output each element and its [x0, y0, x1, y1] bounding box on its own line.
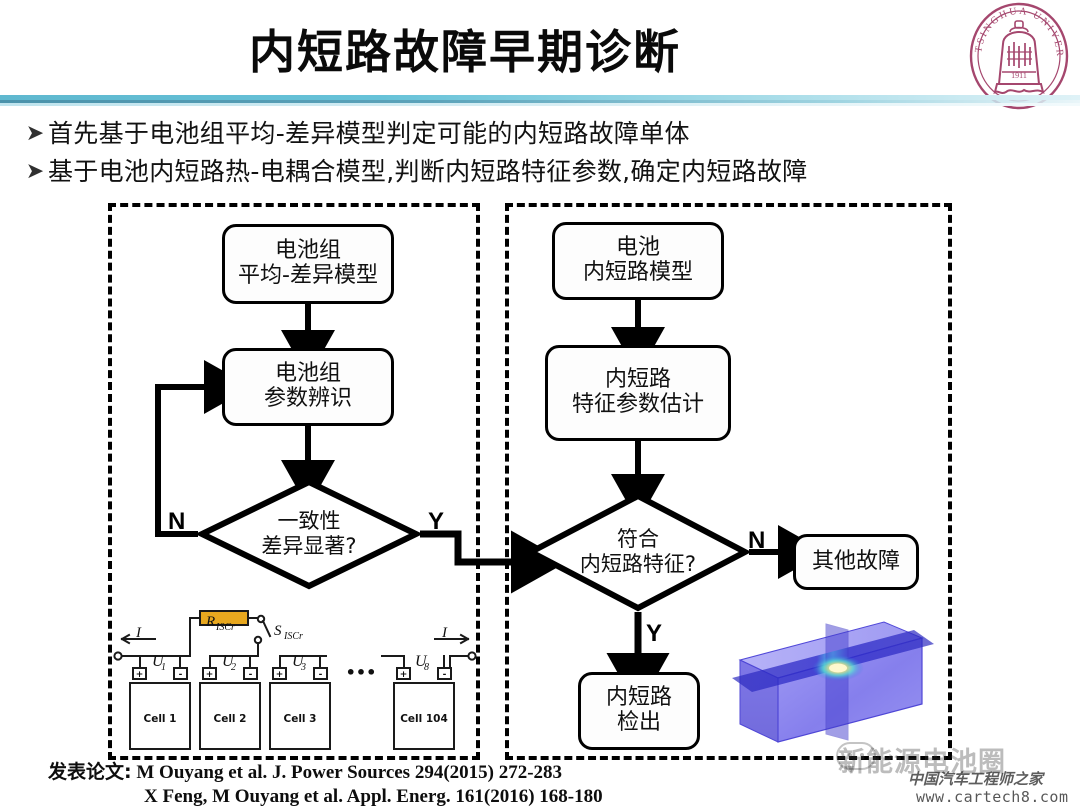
terminal-plus: + [206, 670, 214, 680]
watermark-url: www.cartech8.com [916, 788, 1069, 806]
terminal-plus: + [276, 670, 284, 680]
branch-label-feature-yes: Y [646, 620, 662, 648]
branch-label-consistency-yes: Y [428, 508, 444, 536]
bullet-text: 首先基于电池组平均-差异模型判定可能的内短路故障单体 [48, 118, 690, 150]
cells-ellipsis: ••• [346, 663, 377, 682]
slide-canvas: 内短路故障早期诊断 1911 TSINGHUA UNIVERSITY [0, 0, 1080, 810]
branch-label-consistency-no: N [168, 508, 185, 536]
watermark-organization: 中国汽车工程师之家 [908, 768, 1043, 789]
divider-band-pale [0, 103, 1080, 106]
header-divider [0, 95, 1080, 107]
arrow-bullet-icon: ➤ [22, 118, 48, 148]
decision-line-2: 内短路特征? [580, 552, 696, 577]
node-line-1: 其他故障 [812, 550, 900, 575]
node-line-2: 参数辨识 [264, 387, 352, 412]
node-line-1: 内短路 [605, 368, 671, 393]
terminal-minus: - [319, 670, 323, 680]
terminal-plus: + [136, 670, 144, 680]
footer-reference-2: X Feng, M Ouyang et al. Appl. Energ. 161… [144, 786, 603, 807]
cell-label: Cell 3 [284, 713, 317, 725]
voltage-sublabel: 3 [300, 662, 306, 673]
branch-label-feature-no: N [748, 527, 765, 555]
node-line-1: 电池组 [275, 239, 341, 264]
battery-pack-circuit-schematic: + - + - + - + - I I R ISCr S ISCr U 1 U [112, 606, 478, 756]
decision-consistency-difference-significant[interactable]: 一致性 差异显著? [198, 478, 420, 590]
cell-label: Cell 2 [214, 713, 247, 725]
terminal-minus: - [443, 670, 447, 680]
resistor-label: R [205, 614, 215, 630]
current-label-left: I [135, 625, 142, 641]
node-line-1: 内短路 [606, 686, 672, 711]
cell-label: Cell 104 [400, 713, 448, 725]
node-pack-parameter-identification[interactable]: 电池组 参数辨识 [222, 348, 394, 426]
footer-label: 发表论文: [48, 761, 132, 783]
terminal-minus: - [249, 670, 253, 680]
node-line-2: 检出 [617, 711, 661, 736]
switch-sublabel: ISCr [283, 631, 303, 642]
node-line-1: 电池 [616, 236, 660, 261]
node-line-2: 平均-差异模型 [238, 264, 378, 289]
decision-matches-isc-feature[interactable]: 符合 内短路特征? [527, 492, 749, 612]
decision-line-2: 差异显著? [261, 534, 356, 559]
arrow-bullet-icon: ➤ [22, 156, 48, 186]
voltage-sublabel: 1 [161, 662, 166, 673]
node-isc-detected[interactable]: 内短路 检出 [578, 672, 700, 750]
decision-line-1: 符合 [617, 527, 659, 552]
resistor-sublabel: ISCr [215, 622, 235, 633]
node-cell-internal-short-circuit-model[interactable]: 电池 内短路模型 [552, 222, 724, 300]
publication-references: 发表论文: M Ouyang et al. J. Power Sources 2… [48, 760, 788, 809]
node-line-2: 特征参数估计 [572, 393, 704, 418]
bullet-text: 基于电池内短路热-电耦合模型,判断内短路特征参数,确定内短路故障 [48, 156, 808, 188]
battery-thermal-simulation-image [726, 608, 934, 756]
footer-reference-1: M Ouyang et al. J. Power Sources 294(201… [136, 762, 562, 783]
node-other-fault[interactable]: 其他故障 [793, 534, 919, 590]
terminal-plus: + [400, 670, 408, 680]
voltage-sublabel: 8 [424, 662, 429, 673]
node-isc-feature-parameter-estimation[interactable]: 内短路 特征参数估计 [545, 345, 731, 441]
decision-line-1: 一致性 [278, 509, 341, 534]
node-pack-average-difference-model[interactable]: 电池组 平均-差异模型 [222, 224, 394, 304]
cell-label: Cell 1 [144, 713, 177, 725]
node-line-2: 内短路模型 [583, 261, 693, 286]
bullet-item: ➤ 首先基于电池组平均-差异模型判定可能的内短路故障单体 [22, 118, 1022, 150]
terminal-minus: - [179, 670, 183, 680]
bullet-list: ➤ 首先基于电池组平均-差异模型判定可能的内短路故障单体 ➤ 基于电池内短路热-… [22, 118, 1022, 194]
bullet-item: ➤ 基于电池内短路热-电耦合模型,判断内短路特征参数,确定内短路故障 [22, 156, 1022, 188]
switch-label: S [274, 623, 282, 639]
voltage-sublabel: 2 [231, 662, 236, 673]
node-line-1: 电池组 [275, 362, 341, 387]
page-title: 内短路故障早期诊断 [0, 16, 930, 82]
current-label-right: I [441, 625, 448, 641]
tsinghua-university-seal-icon: 1911 TSINGHUA UNIVERSITY [966, 2, 1072, 110]
logo-year: 1911 [1011, 71, 1027, 80]
